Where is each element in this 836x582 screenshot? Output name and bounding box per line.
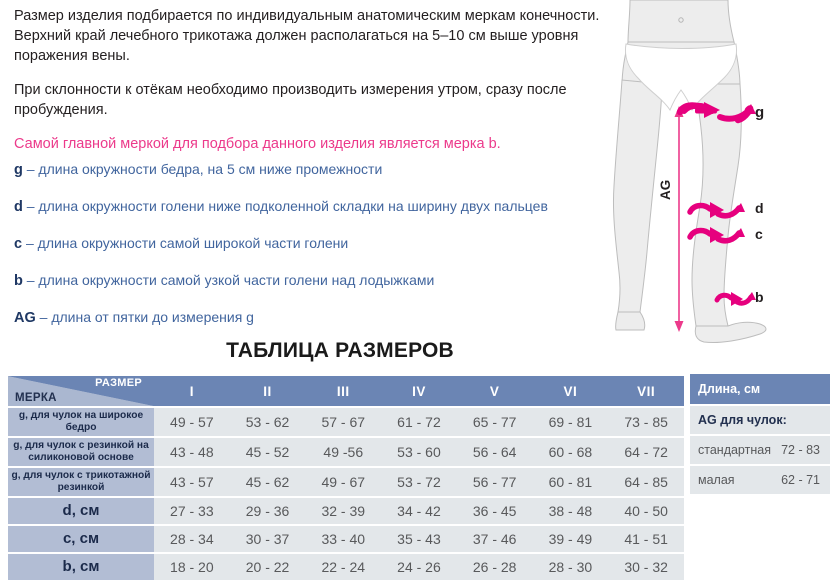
cell-r2-c1: 45 - 62 xyxy=(230,468,306,496)
cell-r4-c3: 35 - 43 xyxy=(381,526,457,552)
table-corner-header: МЕРКА РАЗМЕР xyxy=(8,376,154,406)
figure-label-d: d xyxy=(755,200,764,216)
length-row-standard: стандартная 72 - 83 xyxy=(690,436,830,464)
cell-r5-c4: 26 - 28 xyxy=(457,554,533,580)
cell-r5-c2: 22 - 24 xyxy=(305,554,381,580)
col-header-5: V xyxy=(457,376,533,406)
cell-r3-c5: 38 - 48 xyxy=(533,498,609,524)
length-panel-header: Длина, см xyxy=(690,374,830,404)
col-header-4: IV xyxy=(381,376,457,406)
cell-r3-c0: 27 - 33 xyxy=(154,498,230,524)
length-row-small-label: малая xyxy=(698,473,735,487)
col-header-7: VII xyxy=(608,376,684,406)
cell-r2-c3: 53 - 72 xyxy=(381,468,457,496)
cell-r3-c1: 29 - 36 xyxy=(230,498,306,524)
table-row: c, см 28 - 34 30 - 37 33 - 40 35 - 43 37… xyxy=(8,526,684,552)
length-row-small: малая 62 - 71 xyxy=(690,466,830,494)
legend-desc-g: – длина окружности бедра, на 5 см ниже п… xyxy=(27,161,383,177)
row-label-g-silicone-band: g, для чулок с резинкой на силиконовой о… xyxy=(8,438,154,466)
length-row-title: AG для чулок: xyxy=(690,406,830,434)
legend-item-b: b – длина окружности самой узкой части г… xyxy=(14,271,614,290)
table-row: g, для чулок с трикотажной резинкой 43 -… xyxy=(8,468,684,496)
cell-r0-c3: 61 - 72 xyxy=(381,408,457,436)
ag-measure-arrow-icon xyxy=(675,106,684,332)
cell-r3-c2: 32 - 39 xyxy=(305,498,381,524)
length-panel: Длина, см AG для чулок: стандартная 72 -… xyxy=(690,374,830,494)
cell-r0-c0: 49 - 57 xyxy=(154,408,230,436)
cell-r5-c5: 28 - 30 xyxy=(533,554,609,580)
row-label-g-wide-thigh: g, для чулок на широкое бедро xyxy=(8,408,154,436)
row-label-b: b, см xyxy=(8,554,154,580)
cell-r2-c2: 49 - 67 xyxy=(305,468,381,496)
size-table: МЕРКА РАЗМЕР I II III IV V VI VII g, для… xyxy=(8,374,684,582)
row-label-g-knit-band: g, для чулок с трикотажной резинкой xyxy=(8,468,154,496)
intro-highlight-note: Самой главной меркой для подбора данного… xyxy=(14,134,604,154)
cell-r1-c3: 53 - 60 xyxy=(381,438,457,466)
legend-key-b: b xyxy=(14,273,23,289)
cell-r1-c2: 49 -56 xyxy=(305,438,381,466)
legend-item-g: g – длина окружности бедра, на 5 см ниже… xyxy=(14,160,614,179)
table-header-row: МЕРКА РАЗМЕР I II III IV V VI VII xyxy=(8,376,684,406)
legend-key-g: g xyxy=(14,162,23,178)
cell-r5-c3: 24 - 26 xyxy=(381,554,457,580)
row-label-c: c, см xyxy=(8,526,154,552)
table-row: g, для чулок с резинкой на силиконовой о… xyxy=(8,438,684,466)
cell-r4-c4: 37 - 46 xyxy=(457,526,533,552)
col-header-6: VI xyxy=(533,376,609,406)
legend-key-c: c xyxy=(14,236,22,252)
table-row: d, см 27 - 33 29 - 36 32 - 39 34 - 42 36… xyxy=(8,498,684,524)
cell-r1-c6: 64 - 72 xyxy=(608,438,684,466)
cell-r4-c5: 39 - 49 xyxy=(533,526,609,552)
corner-col-header-label: РАЗМЕР xyxy=(95,377,142,389)
figure-label-c: c xyxy=(755,226,763,242)
cell-r2-c6: 64 - 85 xyxy=(608,468,684,496)
cell-r5-c0: 18 - 20 xyxy=(154,554,230,580)
legend-desc-d: – длина окружности голени ниже подколенн… xyxy=(27,198,548,214)
figure-label-ag: AG xyxy=(658,180,673,200)
leg-measurement-illustration: g d c b AG xyxy=(600,0,836,352)
length-row-standard-value: 72 - 83 xyxy=(781,443,820,457)
cell-r0-c2: 57 - 67 xyxy=(305,408,381,436)
col-header-2: II xyxy=(230,376,306,406)
cell-r2-c0: 43 - 57 xyxy=(154,468,230,496)
measurement-legend: g – длина окружности бедра, на 5 см ниже… xyxy=(14,160,614,345)
cell-r3-c6: 40 - 50 xyxy=(608,498,684,524)
cell-r0-c4: 65 - 77 xyxy=(457,408,533,436)
col-header-1: I xyxy=(154,376,230,406)
cell-r4-c6: 41 - 51 xyxy=(608,526,684,552)
legend-desc-c: – длина окружности самой широкой части г… xyxy=(26,235,348,251)
col-header-3: III xyxy=(305,376,381,406)
size-table-title: ТАБЛИЦА РАЗМЕРОВ xyxy=(0,339,680,363)
cell-r1-c5: 60 - 68 xyxy=(533,438,609,466)
cell-r0-c6: 73 - 85 xyxy=(608,408,684,436)
length-row-small-value: 62 - 71 xyxy=(781,473,820,487)
legend-item-c: c – длина окружности самой широкой части… xyxy=(14,234,614,253)
figure-label-g: g xyxy=(755,104,764,121)
cell-r1-c4: 56 - 64 xyxy=(457,438,533,466)
intro-paragraph-2: При склонности к отёкам необходимо произ… xyxy=(14,80,604,120)
legend-desc-ag: – длина от пятки до измерения g xyxy=(40,309,254,325)
cell-r2-c4: 56 - 77 xyxy=(457,468,533,496)
table-row: b, см 18 - 20 20 - 22 22 - 24 24 - 26 26… xyxy=(8,554,684,580)
length-row-title-label: AG для чулок: xyxy=(698,413,787,427)
table-row: g, для чулок на широкое бедро 49 - 57 53… xyxy=(8,408,684,436)
legend-item-ag: AG – длина от пятки до измерения g xyxy=(14,308,614,327)
intro-paragraph-1: Размер изделия подбирается по индивидуал… xyxy=(14,6,604,66)
legend-item-d: d – длина окружности голени ниже подколе… xyxy=(14,197,614,216)
legend-key-d: d xyxy=(14,199,23,215)
cell-r4-c2: 33 - 40 xyxy=(305,526,381,552)
cell-r1-c1: 45 - 52 xyxy=(230,438,306,466)
cell-r2-c5: 60 - 81 xyxy=(533,468,609,496)
figure-label-b: b xyxy=(755,289,764,305)
cell-r0-c1: 53 - 62 xyxy=(230,408,306,436)
legend-key-ag: AG xyxy=(14,310,36,326)
intro-text-block: Размер изделия подбирается по индивидуал… xyxy=(14,6,604,172)
cell-r5-c1: 20 - 22 xyxy=(230,554,306,580)
length-row-standard-label: стандартная xyxy=(698,443,771,457)
legend-desc-b: – длина окружности самой узкой части гол… xyxy=(27,272,435,288)
corner-row-header-label: МЕРКА xyxy=(15,392,57,404)
cell-r3-c4: 36 - 45 xyxy=(457,498,533,524)
cell-r0-c5: 69 - 81 xyxy=(533,408,609,436)
row-label-d: d, см xyxy=(8,498,154,524)
cell-r4-c0: 28 - 34 xyxy=(154,526,230,552)
body-silhouette-icon xyxy=(613,0,766,343)
cell-r1-c0: 43 - 48 xyxy=(154,438,230,466)
cell-r5-c6: 30 - 32 xyxy=(608,554,684,580)
cell-r4-c1: 30 - 37 xyxy=(230,526,306,552)
cell-r3-c3: 34 - 42 xyxy=(381,498,457,524)
